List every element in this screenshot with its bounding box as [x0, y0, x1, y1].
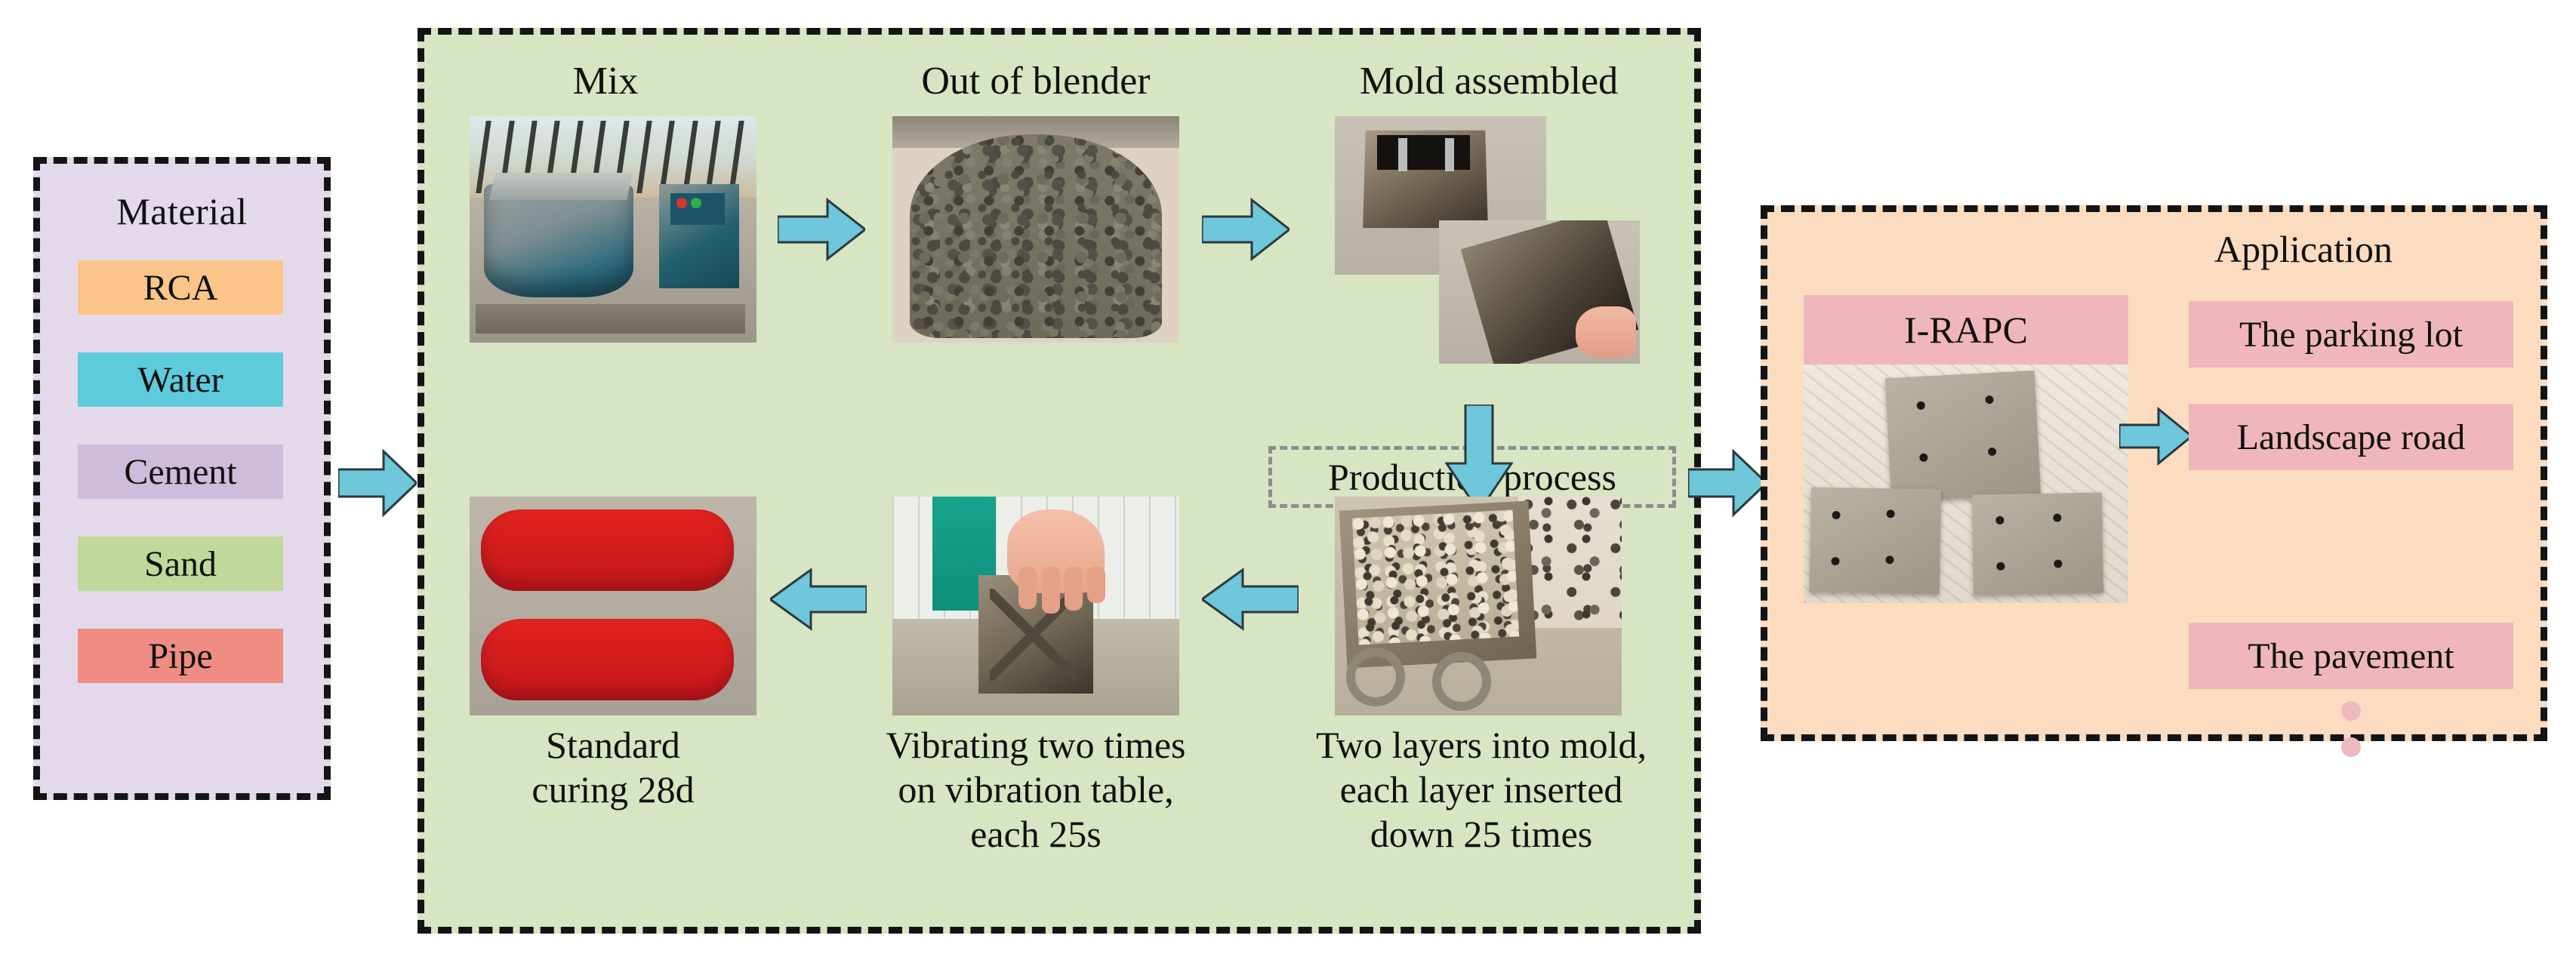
arrow-process-to-application-icon — [1688, 447, 1767, 519]
assembled-mold-detail-photo — [1439, 220, 1640, 364]
material-item-label: Pipe — [148, 635, 212, 677]
caption-line: on vibration table, — [855, 768, 1217, 812]
step-title-mix: Mix — [447, 59, 764, 103]
material-panel: Material RCA Water Cement Sand Pipe — [33, 157, 331, 800]
material-item-water[interactable]: Water — [78, 352, 283, 407]
production-process-panel: Mix Out of blender Mold assembled — [418, 28, 1701, 934]
caption-vibrating: Vibrating two times on vibration table, … — [855, 723, 1217, 857]
material-item-pipe[interactable]: Pipe — [78, 629, 283, 683]
application-use-landscape-road[interactable]: Landscape road — [2189, 404, 2513, 470]
material-item-label: RCA — [143, 267, 218, 309]
aggregate-pile-photo — [892, 116, 1179, 343]
application-use-label: The pavement — [2248, 635, 2454, 677]
material-panel-title: Material — [40, 189, 324, 233]
caption-line: each 25s — [855, 812, 1217, 857]
caption-line: down 25 times — [1293, 812, 1670, 857]
caption-line: Standard — [454, 723, 772, 768]
material-item-cement[interactable]: Cement — [78, 445, 283, 499]
material-item-label: Cement — [124, 451, 236, 493]
vibration-table-photo — [892, 497, 1179, 715]
material-item-rca[interactable]: RCA — [78, 260, 283, 315]
ellipsis-dot-icon — [2341, 737, 2361, 757]
sample-label-i-rapc: I-RAPC — [1804, 295, 2128, 365]
step-title-out-of-blender: Out of blender — [877, 59, 1194, 103]
caption-line: each layer inserted — [1293, 768, 1670, 812]
application-panel: Application I-RAPC — [1761, 205, 2547, 741]
application-use-label: The parking lot — [2239, 314, 2463, 355]
flowchart-canvas: Material RCA Water Cement Sand Pipe Mix … — [0, 0, 2576, 963]
arrow-mix-to-blender-icon — [778, 197, 865, 262]
caption-standard-curing: Standard curing 28d — [454, 723, 772, 812]
i-rapc-paver-photo — [1804, 365, 2128, 603]
material-item-label: Sand — [144, 543, 217, 585]
material-item-label: Water — [137, 359, 223, 401]
caption-line: Two layers into mold, — [1293, 723, 1670, 768]
red-cured-specimens-photo — [470, 497, 756, 715]
application-use-label: Landscape road — [2237, 417, 2466, 458]
caption-two-layers: Two layers into mold, each layer inserte… — [1293, 723, 1670, 857]
application-panel-title: Application — [2092, 227, 2515, 271]
arrow-sample-to-uses-icon — [2119, 407, 2192, 466]
concrete-mixer-photo — [470, 116, 756, 343]
mold-filled-photo — [1335, 497, 1622, 715]
arrow-blender-to-mold-icon — [1202, 197, 1290, 262]
ellipsis-dot-icon — [2341, 701, 2361, 721]
caption-line: curing 28d — [454, 768, 772, 812]
arrow-mold-down-icon — [1445, 405, 1513, 512]
material-item-sand[interactable]: Sand — [78, 537, 283, 591]
application-use-pavement[interactable]: The pavement — [2189, 623, 2513, 689]
step-title-mold-assembled: Mold assembled — [1315, 59, 1662, 103]
sample-label-text: I-RAPC — [1904, 308, 2028, 352]
arrow-vibrate-to-curing-icon — [770, 568, 867, 631]
caption-line: Vibrating two times — [855, 723, 1217, 768]
arrow-fill-to-vibrate-icon — [1202, 568, 1299, 631]
arrow-material-to-process-icon — [338, 447, 417, 519]
application-use-parking-lot[interactable]: The parking lot — [2189, 301, 2513, 368]
